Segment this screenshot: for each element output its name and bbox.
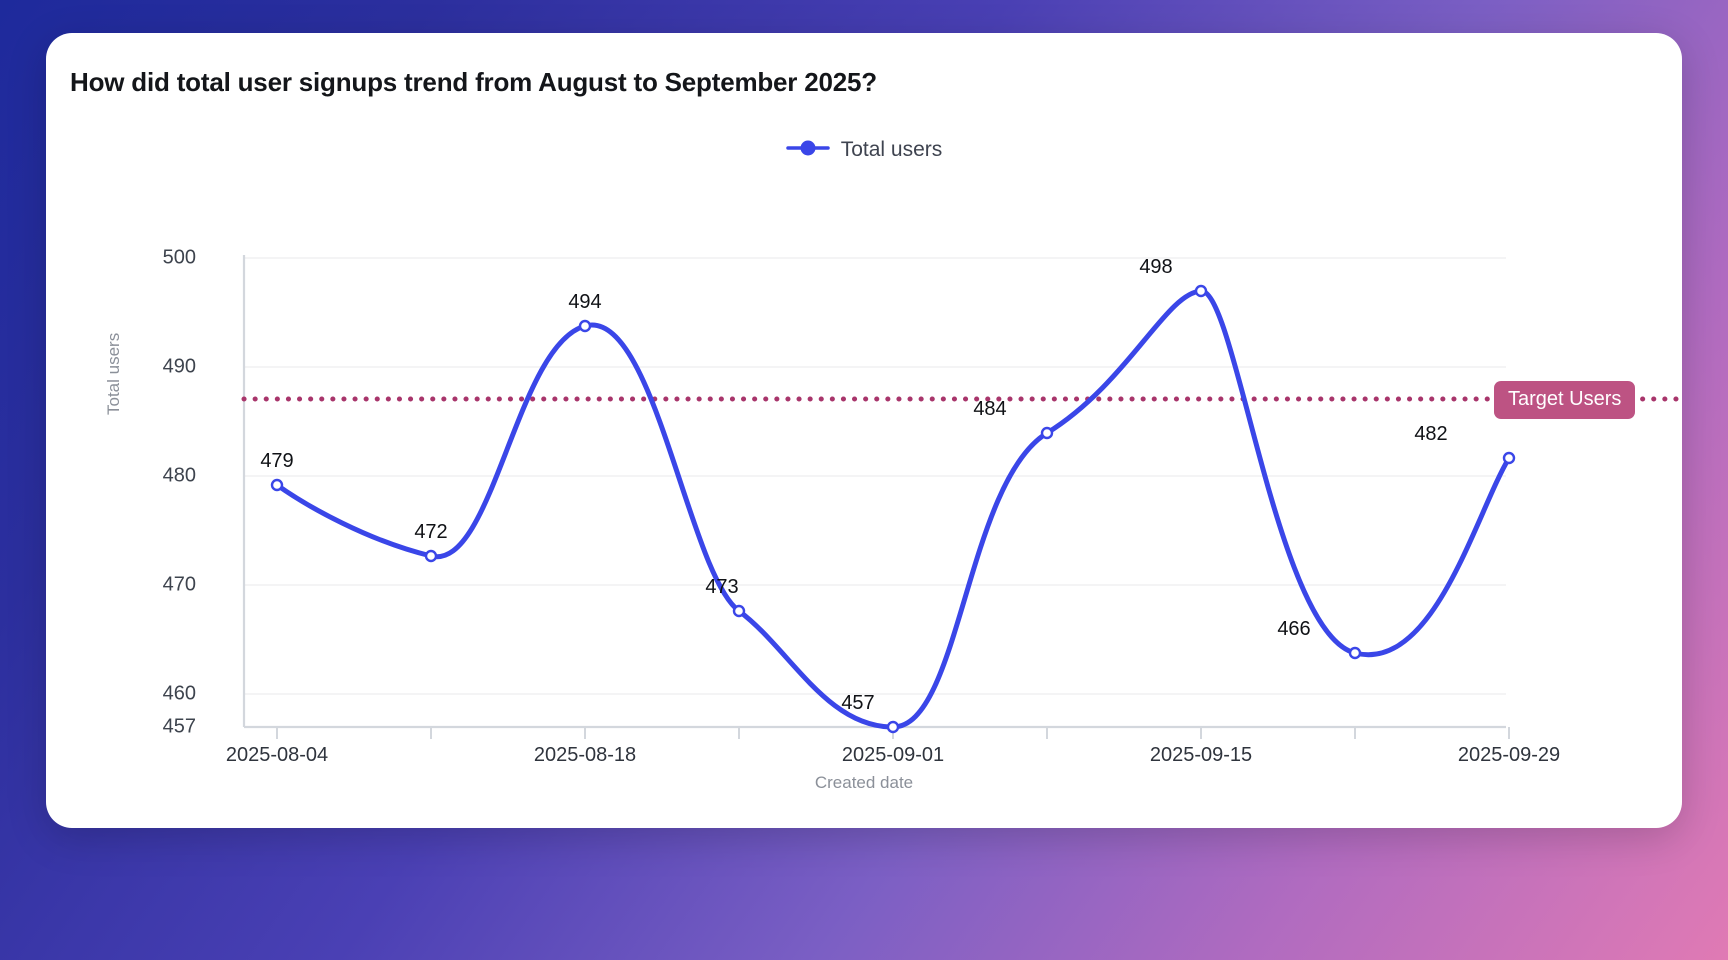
data-point xyxy=(1350,648,1360,658)
series-markers xyxy=(272,286,1514,732)
data-point xyxy=(1042,428,1052,438)
data-label: 494 xyxy=(568,291,601,314)
grid-lines xyxy=(244,258,1506,694)
x-tick-label: 2025-08-18 xyxy=(534,744,636,767)
x-axis-title: Created date xyxy=(46,773,1682,793)
x-tick-label: 2025-08-04 xyxy=(226,744,328,767)
data-point xyxy=(580,321,590,331)
x-tick-label: 2025-09-01 xyxy=(842,744,944,767)
data-point xyxy=(734,606,744,616)
data-label: 498 xyxy=(1139,256,1172,279)
x-tick-label: 2025-09-29 xyxy=(1458,744,1560,767)
data-point xyxy=(272,480,282,490)
chart-card: How did total user signups trend from Au… xyxy=(46,33,1682,828)
data-point xyxy=(1504,453,1514,463)
data-label: 472 xyxy=(414,521,447,544)
data-point xyxy=(1196,286,1206,296)
series-line-total-users xyxy=(277,291,1509,727)
x-tick-label: 2025-09-15 xyxy=(1150,744,1252,767)
data-label: 479 xyxy=(260,450,293,473)
data-label: 484 xyxy=(973,398,1006,421)
data-label: 457 xyxy=(841,692,874,715)
plot-area: Total users 500 490 480 470 460 457 xyxy=(46,33,1682,828)
data-point xyxy=(426,551,436,561)
data-label: 466 xyxy=(1277,618,1310,641)
data-label: 473 xyxy=(705,576,738,599)
target-users-badge[interactable]: Target Users xyxy=(1494,381,1635,419)
data-label: 482 xyxy=(1414,423,1447,446)
data-point xyxy=(888,722,898,732)
